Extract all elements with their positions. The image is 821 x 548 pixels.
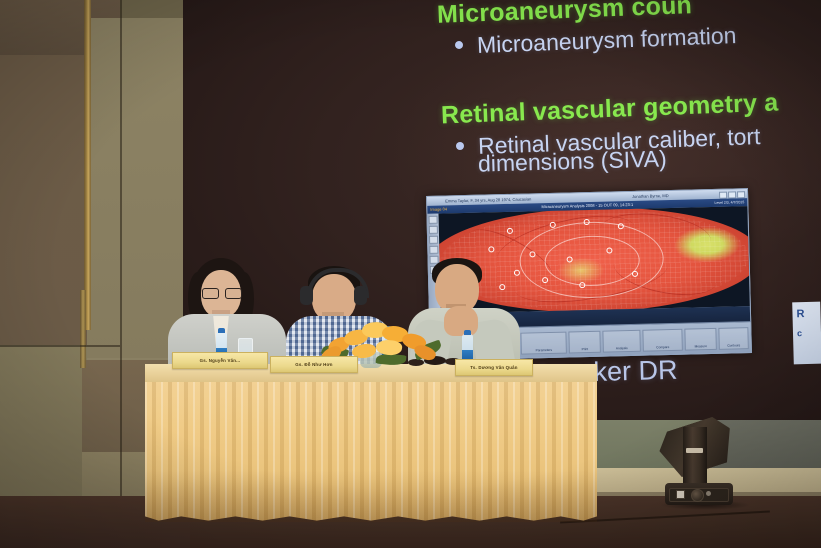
headphone-earcup-right <box>354 286 367 305</box>
parameters-label: Parameters <box>522 348 566 353</box>
parameters-group[interactable]: Parameters <box>520 332 567 355</box>
headphone-earcup-left <box>300 286 313 305</box>
microaneurysm-marker <box>507 228 513 234</box>
glasses-lens-right <box>225 288 242 299</box>
compare-group[interactable]: Compare <box>642 329 683 352</box>
tool-marker-icon[interactable] <box>429 246 438 254</box>
print-group[interactable]: Print <box>568 331 601 354</box>
clasped-hands <box>444 306 478 336</box>
glasses-lens-left <box>202 288 219 299</box>
nameplate-left: Gs. Nguyễn Văn... <box>172 352 268 369</box>
microaneurysm-marker <box>606 247 612 253</box>
contours-group[interactable]: Contours <box>718 327 749 350</box>
edge-panel-fragment: R c <box>792 302 821 365</box>
microaneurysm-marker <box>566 256 572 262</box>
edge-panel-text-2: c <box>797 328 802 338</box>
stage-light-button[interactable] <box>676 490 685 499</box>
measure-label: Measure <box>686 344 716 349</box>
wall-seam-horizontal <box>0 345 120 347</box>
wall-gold-trim-lower <box>80 290 86 368</box>
slide-bullet-2-line2: dimensions (SIVA) <box>478 145 667 177</box>
stage-light-yoke <box>683 427 707 485</box>
bullet-dot-2 <box>456 142 464 150</box>
conference-photo: Microaneurysm coun Microaneurysm formati… <box>0 0 821 548</box>
measure-group[interactable]: Measure <box>684 328 717 351</box>
analysis-label: Analysis <box>604 346 640 351</box>
compare-label: Compare <box>644 345 682 350</box>
stage-light-indicator <box>706 491 711 496</box>
microaneurysm-marker <box>632 271 638 277</box>
tool-zoom-icon[interactable] <box>429 226 438 234</box>
analysis-group[interactable]: Analysis <box>602 330 641 353</box>
nameplate-center: Gs. Đỗ Như Hơn <box>270 356 358 373</box>
edge-panel-text-1: R <box>796 308 804 320</box>
bottle-cap <box>464 330 471 335</box>
bottle-cap <box>218 328 225 333</box>
print-label: Print <box>570 347 600 352</box>
contours-label: Contours <box>720 343 748 348</box>
stage-light-knob[interactable] <box>691 489 704 502</box>
microaneurysm-marker <box>542 277 548 283</box>
tool-measure-icon[interactable] <box>429 236 438 244</box>
microaneurysm-marker <box>529 251 535 257</box>
glasses-icon <box>202 288 240 297</box>
wall-gold-trim <box>84 0 91 330</box>
table-skirt <box>145 382 597 522</box>
wall-seam <box>120 0 122 548</box>
nameplate-right: Ts. Dương Văn Quân <box>455 359 533 376</box>
stage-light-badge <box>686 448 703 453</box>
tool-pointer-icon[interactable] <box>429 216 438 224</box>
app-analysis-label: Microaneurysm Analysis 2008 - 15 OUT 09,… <box>541 202 633 209</box>
